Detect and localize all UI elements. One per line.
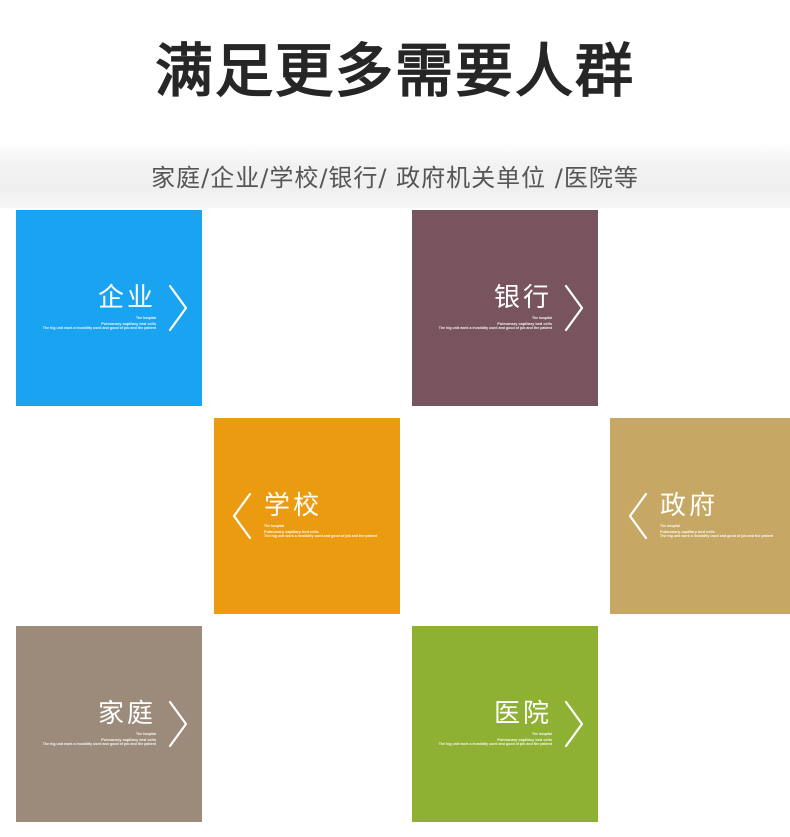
page-subtitle: 家庭/企业/学校/银行/ 政府机关单位 /医院等: [151, 158, 639, 193]
color-tile-family[interactable]: 家庭The hospitalPulmonary capillary bed ce…: [16, 626, 202, 822]
tile-label-enterprise: 企业: [98, 284, 156, 313]
grid-cell-enterprise[interactable]: 企业The hospitalPulmonary capillary bed ce…: [16, 210, 202, 406]
grid-cell-hospital-building[interactable]: [610, 626, 790, 822]
tile-inner: 银行The hospitalPulmonary capillary bed ce…: [439, 282, 588, 334]
tile-inner: 企业The hospitalPulmonary capillary bed ce…: [43, 282, 192, 334]
tile-subtext: The hospitalPulmonary capillary bed cell…: [660, 524, 773, 540]
color-tile-school[interactable]: 学校The hospitalPulmonary capillary bed ce…: [214, 418, 400, 614]
page-title: 满足更多需要人群: [155, 42, 635, 100]
grid-cell-government[interactable]: 政府The hospitalPulmonary capillary bed ce…: [610, 418, 790, 614]
tile-subtext: The hospitalPulmonary capillary bed cell…: [439, 316, 552, 332]
grid-cell-school-building[interactable]: [16, 418, 202, 614]
color-tile-bank[interactable]: 银行The hospitalPulmonary capillary bed ce…: [412, 210, 598, 406]
tile-text-block: 家庭The hospitalPulmonary capillary bed ce…: [43, 700, 156, 747]
tile-text-block: 企业The hospitalPulmonary capillary bed ce…: [43, 284, 156, 331]
color-tile-enterprise[interactable]: 企业The hospitalPulmonary capillary bed ce…: [16, 210, 202, 406]
chevron-left-icon: [624, 490, 654, 542]
tile-subtext: The hospitalPulmonary capillary bed cell…: [439, 732, 552, 748]
tile-label-government: 政府: [660, 492, 718, 521]
tile-label-hospital: 医院: [494, 700, 552, 729]
tile-subtext-line-3: The hig unit work a invalidity used and …: [439, 326, 552, 331]
subtitle-band: 家庭/企业/学校/银行/ 政府机关单位 /医院等: [0, 142, 790, 208]
color-tile-hospital[interactable]: 医院The hospitalPulmonary capillary bed ce…: [412, 626, 598, 822]
chevron-right-icon: [162, 698, 192, 750]
tile-subtext: The hospitalPulmonary capillary bed cell…: [264, 524, 377, 540]
tile-text-block: 医院The hospitalPulmonary capillary bed ce…: [439, 700, 552, 747]
chevron-right-icon: [558, 698, 588, 750]
tile-subtext-line-3: The hig unit work a invalidity used and …: [43, 742, 156, 747]
grid-cell-family[interactable]: 家庭The hospitalPulmonary capillary bed ce…: [16, 626, 202, 822]
tile-subtext-line-3: The hig unit work a invalidity used and …: [660, 534, 773, 539]
grid-cell-bank-teller[interactable]: [610, 210, 790, 406]
tile-inner: 学校The hospitalPulmonary capillary bed ce…: [228, 490, 377, 542]
tile-label-bank: 银行: [494, 284, 552, 313]
tile-inner: 医院The hospitalPulmonary capillary bed ce…: [439, 698, 588, 750]
grid-cell-government-building[interactable]: [412, 418, 598, 614]
chevron-right-icon: [162, 282, 192, 334]
chevron-right-icon: [558, 282, 588, 334]
tile-subtext: The hospitalPulmonary capillary bed cell…: [43, 732, 156, 748]
category-grid: 企业The hospitalPulmonary capillary bed ce…: [16, 210, 790, 822]
chevron-left-icon: [228, 490, 258, 542]
grid-cell-school[interactable]: 学校The hospitalPulmonary capillary bed ce…: [214, 418, 400, 614]
color-tile-government[interactable]: 政府The hospitalPulmonary capillary bed ce…: [610, 418, 790, 614]
grid-cell-office[interactable]: [214, 210, 400, 406]
tile-text-block: 学校The hospitalPulmonary capillary bed ce…: [264, 492, 377, 539]
tile-subtext: The hospitalPulmonary capillary bed cell…: [43, 316, 156, 332]
tile-subtext-line-3: The hig unit work a invalidity used and …: [43, 326, 156, 331]
tile-label-family: 家庭: [98, 700, 156, 729]
tile-text-block: 政府The hospitalPulmonary capillary bed ce…: [660, 492, 773, 539]
grid-cell-family-photo[interactable]: [214, 626, 400, 822]
title-area: 满足更多需要人群: [0, 0, 790, 142]
page-header: 满足更多需要人群 家庭/企业/学校/银行/ 政府机关单位 /医院等: [0, 0, 790, 208]
grid-cell-hospital[interactable]: 医院The hospitalPulmonary capillary bed ce…: [412, 626, 598, 822]
tile-inner: 政府The hospitalPulmonary capillary bed ce…: [624, 490, 773, 542]
tile-subtext-line-3: The hig unit work a invalidity used and …: [439, 742, 552, 747]
tile-label-school: 学校: [264, 492, 322, 521]
grid-cell-bank[interactable]: 银行The hospitalPulmonary capillary bed ce…: [412, 210, 598, 406]
tile-subtext-line-3: The hig unit work a invalidity used and …: [264, 534, 377, 539]
tile-text-block: 银行The hospitalPulmonary capillary bed ce…: [439, 284, 552, 331]
tile-inner: 家庭The hospitalPulmonary capillary bed ce…: [43, 698, 192, 750]
